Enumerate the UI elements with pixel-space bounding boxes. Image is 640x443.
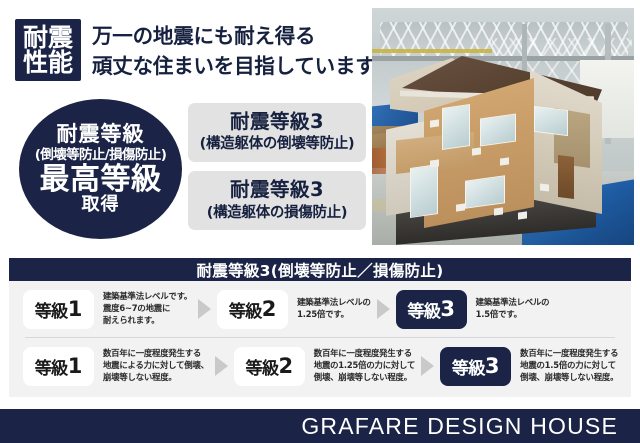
grade-callout-title: 耐震等級3 [188,110,366,134]
grade-description-line: 数百年に一度程度発生する [520,348,618,360]
grade-card-2: 等級2 [217,290,288,329]
highest-grade-seal: 耐震等級 (倒壊等防止/損傷防止) 最高等級 取得 [19,99,182,239]
grade-comparison-panel: 耐震等級3(倒壊等防止／損傷防止) 等級1 建築基準法レベルです。 震度6~7の… [9,258,631,397]
header-headline: 万一の地震にも耐え得る 頑丈な住まいを目指しています。 [92,22,367,81]
photo-house-entrance-door [558,155,574,199]
grade-callout-subtitle: (構造躯体の倒壊等防止) [188,135,366,154]
seismic-tag-line-2: 性能 [23,50,73,76]
grade-description-line: 地震の1.5倍の力に対して [520,360,618,372]
grade-callout-subtitle: (構造躯体の損傷防止) [188,204,366,223]
photo-house-window-1 [442,104,470,150]
grade-step: 等級3 建築基準法レベルの 1.5倍です。 [396,290,550,329]
grade-card-label: 等級 [35,297,68,322]
arrow-right-icon [421,356,434,376]
grade-description-line: 倒壊、崩壊等しない程度。 [520,372,618,384]
seal-line-1: 耐震等級 [57,123,145,145]
seal-line-4: 取得 [82,196,120,215]
footer-bar: GRAFARE DESIGN HOUSE [0,409,640,443]
header-section: 耐震 性能 万一の地震にも耐え得る 頑丈な住まいを目指しています。 [0,0,370,95]
photo-sensor-plate-8 [540,183,549,191]
photo-sensor-plate-2 [430,159,439,167]
photo-sensor-plate-1 [430,119,439,127]
grade-step: 等級2 建築基準法レベルの 1.25倍です。 [217,290,371,329]
grade-description: 建築基準法レベルです。 震度6~7の地震に 耐えられます。 [94,291,192,327]
photo-sensor-plate-7 [518,211,527,219]
grade-step: 等級2 数百年に一度程度発生する 地震の1.25倍の力に対して 倒壊、崩壊等しな… [234,347,415,386]
shake-table-house-photo [372,8,634,245]
photo-sensor-plate-5 [456,203,465,211]
photo-house-window-4 [410,164,438,218]
grade-card-number: 1 [68,297,83,321]
grade-callout-group: 耐震等級3 (構造躯体の倒壊等防止) 耐震等級3 (構造躯体の損傷防止) [188,103,366,239]
grade-description-line: 数百年に一度程度発生する [314,348,415,360]
grade-step: 等級1 建築基準法レベルです。 震度6~7の地震に 耐えられます。 [23,290,192,329]
grade-card-3: 等級3 [440,347,511,386]
grade-description-line: 地震の1.25倍の力に対して [314,360,415,372]
arrow-right-icon [198,299,211,319]
photo-sensor-plate-4 [500,157,509,165]
grade-card-1: 等級1 [23,290,94,329]
photo-sensor-plate-3 [472,147,481,155]
photo-house-window-5 [534,106,568,136]
photo-house-window-2 [480,113,516,146]
grade-description-line: 崩壊等しない程度。 [103,372,209,384]
grade-card-3: 等級3 [396,290,467,329]
grade-row-building-standard: 等級1 建築基準法レベルです。 震度6~7の地震に 耐えられます。 等級2 建築… [9,281,631,337]
grade-callout-damage-prevention: 耐震等級3 (構造躯体の損傷防止) [188,171,366,230]
seal-line-2: (倒壊等防止/損傷防止) [35,148,167,162]
seismic-performance-tag: 耐震 性能 [15,19,81,81]
seal-line-3: 最高等級 [40,164,162,196]
grade-card-label: 等級 [245,354,278,379]
grade-description-line: 1.5倍です。 [476,309,550,321]
grade-description-line: 倒壊、崩壊等しない程度。 [314,372,415,384]
photo-sensor-plate-6 [494,207,503,215]
grade-card-label: 等級 [35,354,68,379]
grade-card-1: 等級1 [23,347,94,386]
grade-callout-collapse-prevention: 耐震等級3 (構造躯体の倒壊等防止) [188,103,366,162]
brand-wordmark: GRAFARE DESIGN HOUSE [301,413,640,440]
photo-crane-rail [372,49,492,53]
panel-title: 耐震等級3(倒壊等防止／損傷防止) [9,258,631,281]
grade-description: 数百年に一度程度発生する 地震の1.5倍の力に対して 倒壊、崩壊等しない程度。 [511,348,618,384]
grade-description-line: 建築基準法レベルの [476,297,550,309]
grade-description: 建築基準法レベルの 1.5倍です。 [467,297,550,321]
grade-description-line: 震度6~7の地震に [103,303,192,315]
grade-row-seismic-force: 等級1 数百年に一度程度発生する 地震による力に対して倒壊、 崩壊等しない程度。… [9,338,631,394]
grade-description: 数百年に一度程度発生する 地震による力に対して倒壊、 崩壊等しない程度。 [94,348,209,384]
grade-card-2: 等級2 [234,347,305,386]
grade-description-line: 1.25倍です。 [297,309,371,321]
grade-description-line: 建築基準法レベルです。 [103,291,192,303]
grade-description-line: 数百年に一度程度発生する [103,348,209,360]
grade-card-label: 等級 [452,354,485,379]
grade-card-number: 2 [262,297,277,321]
grade-card-number: 1 [68,354,83,378]
grade-card-label: 等級 [229,297,262,322]
seismic-tag-line-1: 耐震 [23,25,73,51]
grade-description-line: 建築基準法レベルの [297,297,371,309]
grade-card-number: 2 [278,354,293,378]
grade-description-line: 耐えられます。 [103,315,192,327]
grade-step: 等級1 数百年に一度程度発生する 地震による力に対して倒壊、 崩壊等しない程度。 [23,347,209,386]
header-headline-line-1: 万一の地震にも耐え得る [92,22,367,52]
arrow-right-icon [215,356,228,376]
header-headline-line-2: 頑丈な住まいを目指しています。 [92,52,367,82]
grade-description: 建築基準法レベルの 1.25倍です。 [288,297,371,321]
grade-description: 数百年に一度程度発生する 地震の1.25倍の力に対して 倒壊、崩壊等しない程度。 [305,348,415,384]
arrow-right-icon [377,299,390,319]
grade-step: 等級3 数百年に一度程度発生する 地震の1.5倍の力に対して 倒壊、崩壊等しない… [440,347,618,386]
grade-card-label: 等級 [407,297,440,322]
grade-callout-title: 耐震等級3 [188,178,366,202]
grade-card-number: 3 [440,297,455,321]
grade-card-number: 3 [485,354,500,378]
photo-house-window-3 [465,175,505,209]
grade-description-line: 地震による力に対して倒壊、 [103,360,209,372]
